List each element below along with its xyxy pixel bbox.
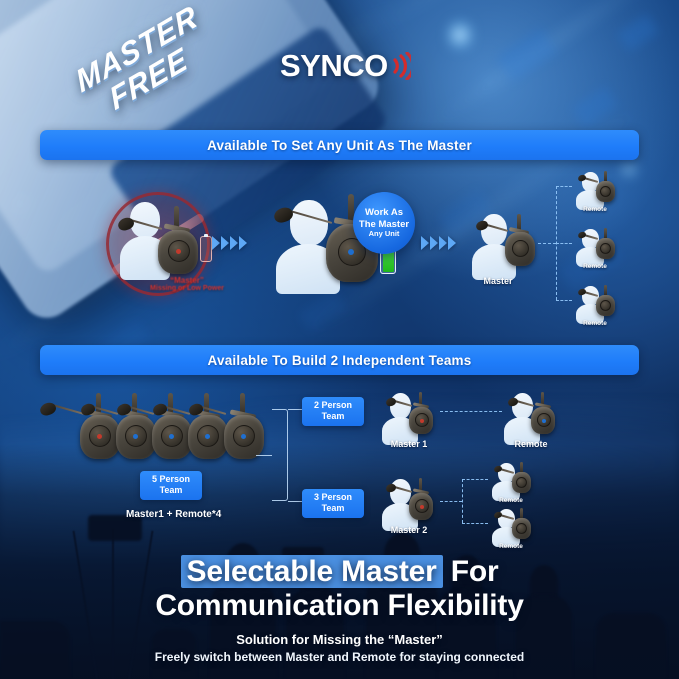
split-bracket-top: [288, 409, 302, 410]
hero-text-block: Selectable Master For Communication Flex…: [0, 556, 679, 664]
warning-line-1: “Master”: [132, 276, 242, 285]
master-2-label: Master 2: [372, 525, 446, 535]
tree-branch: [556, 186, 572, 187]
unit-cluster-5: [70, 393, 270, 463]
split-bracket: [272, 409, 288, 501]
team-2-remote-label: Remote: [484, 543, 538, 550]
section-banner-1: Available To Set Any Unit As The Master: [40, 130, 639, 160]
cluster-note: Master1 + Remote*4: [126, 509, 221, 520]
chip-line-2: Team: [310, 411, 356, 422]
bubble-line-3: Any Unit: [369, 230, 400, 239]
section-1-diagram: “Master” Missing or Low Power: [40, 170, 639, 325]
remote-label: Remote: [568, 263, 622, 270]
chip-2-person-team: 2 Person Team: [302, 397, 364, 426]
chip-line-2: Team: [148, 485, 194, 496]
section-banner-1-label: Available To Set Any Unit As The Master: [207, 138, 472, 153]
promo-infographic: MASTER FREE SYNCO Available To Set Any U…: [0, 0, 679, 679]
figure-team-2-remote: [490, 507, 534, 545]
chip-3-person-team: 3 Person Team: [302, 489, 364, 518]
chip-5-person-team: 5 Person Team: [140, 471, 202, 500]
headset-unit: [592, 284, 618, 320]
figure-team-2-remote: [490, 461, 534, 499]
figure-remote: [574, 227, 616, 265]
team-2-branch: [462, 479, 488, 480]
headset-unit: [404, 477, 438, 527]
flow-arrows-2: [421, 236, 456, 250]
warning-line-2: Missing or Low Power: [132, 285, 242, 292]
team-2-connector: [440, 501, 462, 502]
hero-headline-highlight: Selectable Master: [181, 555, 443, 588]
headset-unit: [214, 393, 270, 463]
chip-line-1: 3 Person: [310, 492, 356, 503]
team-1-remote-label: Remote: [494, 439, 568, 449]
chip-line-2: Team: [310, 503, 356, 514]
section-banner-2-label: Available To Build 2 Independent Teams: [208, 353, 472, 368]
headset-unit: [592, 227, 618, 263]
headset-unit: [498, 212, 540, 274]
headset-unit: [148, 206, 204, 280]
hero-headline-line-1: Selectable Master For: [0, 556, 679, 588]
tree-branch: [556, 300, 572, 301]
hero-subtitle-1: Solution for Missing the “Master”: [0, 632, 679, 647]
sound-waves-icon: [391, 52, 411, 80]
split-bracket-bottom: [288, 501, 302, 502]
flow-arrows-1: [212, 236, 247, 250]
synco-logo: SYNCO: [280, 48, 411, 84]
master-1-label: Master 1: [372, 439, 446, 449]
section-banner-2: Available To Build 2 Independent Teams: [40, 345, 639, 375]
hero-subtitle-2: Freely switch between Master and Remote …: [0, 650, 679, 664]
headset-unit: [508, 461, 534, 497]
headset-unit: [592, 170, 618, 206]
master-label: Master: [458, 276, 538, 286]
team-2-branch: [462, 523, 488, 524]
figure-master-2: [380, 477, 438, 529]
bubble-line-1: Work As: [365, 207, 403, 218]
work-as-master-bubble: Work As The Master Any Unit: [353, 192, 415, 254]
figure-team-1-remote: [502, 391, 560, 443]
headset-unit: [508, 507, 534, 543]
figure-remote: [574, 170, 616, 208]
split-bracket-stem: [256, 455, 272, 456]
battery-empty-icon: [200, 236, 212, 262]
figure-failed-master: [114, 200, 206, 284]
figure-master-1: [380, 391, 438, 443]
headset-unit: [526, 391, 560, 441]
remote-label: Remote: [568, 320, 622, 327]
headset-unit: [404, 391, 438, 441]
team-2-spine: [462, 479, 463, 523]
logo-wordmark: SYNCO: [280, 48, 388, 84]
team-2-remote-label: Remote: [484, 497, 538, 504]
figure-remote: [574, 284, 616, 322]
chip-line-1: 2 Person: [310, 400, 356, 411]
background-glow-dot: [448, 18, 472, 52]
failed-master-warning: “Master” Missing or Low Power: [132, 276, 242, 292]
hero-headline-rest: For: [451, 555, 499, 588]
remote-label: Remote: [568, 206, 622, 213]
tree-branch: [556, 243, 572, 244]
hero-headline-line-2: Communication Flexibility: [0, 589, 679, 622]
figure-master: [470, 212, 534, 278]
section-2-diagram: 5 Person Team Master1 + Remote*4 2 Perso…: [40, 385, 639, 545]
tree-connector-main: [538, 243, 556, 244]
team-1-connector: [440, 411, 502, 412]
chip-line-1: 5 Person: [148, 474, 194, 485]
